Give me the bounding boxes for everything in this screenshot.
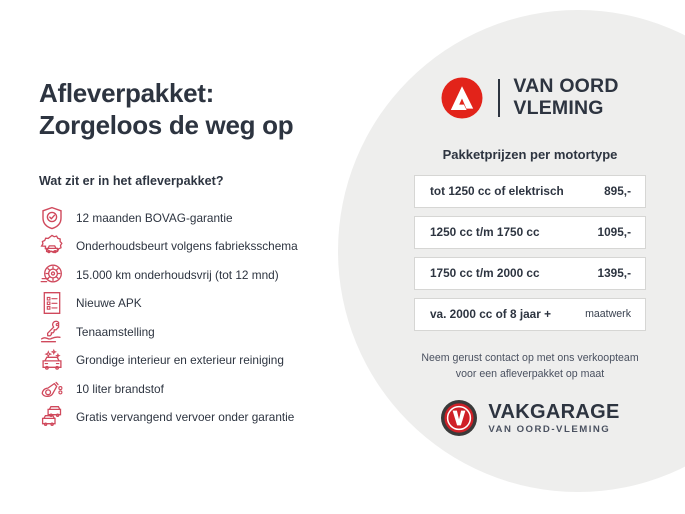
headline-line-2: Zorgeloos de weg op bbox=[39, 110, 359, 142]
headline-line-1: Afleverpakket: bbox=[39, 78, 214, 108]
clipboard-checklist-icon bbox=[39, 290, 65, 316]
price-table: tot 1250 cc of elektrisch 895,- 1250 cc … bbox=[414, 175, 646, 339]
price-row-value: 895,- bbox=[604, 184, 631, 198]
price-row-type: va. 2000 cc of 8 jaar + bbox=[430, 307, 585, 321]
list-item-label: 12 maanden BOVAG-garantie bbox=[76, 211, 233, 225]
list-item-label: 10 liter brandstof bbox=[76, 382, 164, 396]
two-cars-icon bbox=[39, 404, 65, 430]
contact-note-line-1: Neem gerust contact op met ons verkoopte… bbox=[421, 351, 638, 367]
brand-name-line-1: VAN OORD bbox=[513, 76, 618, 98]
list-item: 15.000 km onderhoudsvrij (tot 12 mnd) bbox=[39, 260, 359, 289]
features-subheading: Wat zit er in het afleverpakket? bbox=[39, 174, 359, 188]
price-row-type: 1250 cc t/m 1750 cc bbox=[430, 225, 598, 239]
list-item-label: Onderhoudsbeurt volgens fabrieksschema bbox=[76, 239, 298, 253]
shield-check-icon bbox=[39, 205, 65, 231]
list-item-label: Nieuwe APK bbox=[76, 296, 142, 310]
poster-canvas: Afleverpakket: Zorgeloos de weg op Wat z… bbox=[0, 0, 685, 514]
price-row-value: maatwerk bbox=[585, 308, 631, 320]
list-item: Onderhoudsbeurt volgens fabrieksschema bbox=[39, 232, 359, 261]
list-item: 10 liter brandstof bbox=[39, 374, 359, 403]
brand-logo: VAN OORD VLEMING bbox=[441, 76, 618, 120]
price-row-type: 1750 cc t/m 2000 cc bbox=[430, 266, 598, 280]
right-content-column: VAN OORD VLEMING Pakketprijzen per motor… bbox=[400, 0, 660, 514]
list-item: Nieuwe APK bbox=[39, 289, 359, 318]
car-sparkle-clean-icon bbox=[39, 347, 65, 373]
price-row-type: tot 1250 cc of elektrisch bbox=[430, 184, 604, 198]
contact-note-line-2: voor een afleverpakket op maat bbox=[421, 367, 638, 383]
brand-divider bbox=[498, 79, 500, 117]
price-row-value: 1395,- bbox=[598, 266, 631, 280]
brand-name-line-2: VLEMING bbox=[513, 98, 618, 120]
contact-note: Neem gerust contact op met ons verkoopte… bbox=[421, 351, 638, 383]
features-list: 12 maanden BOVAG-garantie Onderhoudsbeur… bbox=[39, 203, 359, 431]
list-item: 12 maanden BOVAG-garantie bbox=[39, 203, 359, 232]
car-service-gear-icon bbox=[39, 233, 65, 259]
list-item-label: Tenaamstelling bbox=[76, 325, 155, 339]
list-item-label: Gratis vervangend vervoer onder garantie bbox=[76, 410, 294, 424]
key-in-hand-icon bbox=[39, 319, 65, 345]
vakgarage-logo: VAKGARAGE VAN OORD-VLEMING bbox=[440, 399, 619, 437]
price-row-value: 1095,- bbox=[598, 225, 631, 239]
vakgarage-title: VAKGARAGE bbox=[488, 402, 619, 422]
page-title: Afleverpakket: Zorgeloos de weg op bbox=[39, 78, 359, 141]
list-item: Grondige interieur en exterieur reinigin… bbox=[39, 346, 359, 375]
table-row: 1750 cc t/m 2000 cc 1395,- bbox=[414, 257, 646, 290]
left-content-column: Afleverpakket: Zorgeloos de weg op Wat z… bbox=[39, 78, 359, 431]
list-item: Tenaamstelling bbox=[39, 317, 359, 346]
brand-name: VAN OORD VLEMING bbox=[513, 76, 618, 120]
a-circle-logo-icon bbox=[441, 77, 483, 119]
list-item-label: Grondige interieur en exterieur reinigin… bbox=[76, 353, 284, 367]
vakgarage-wordmark: VAKGARAGE VAN OORD-VLEMING bbox=[488, 402, 619, 435]
table-row: tot 1250 cc of elektrisch 895,- bbox=[414, 175, 646, 208]
vakgarage-v-badge-icon bbox=[440, 399, 478, 437]
table-row: 1250 cc t/m 1750 cc 1095,- bbox=[414, 216, 646, 249]
wheel-icon bbox=[39, 262, 65, 288]
table-row: va. 2000 cc of 8 jaar + maatwerk bbox=[414, 298, 646, 331]
list-item: Gratis vervangend vervoer onder garantie bbox=[39, 403, 359, 432]
fuel-pump-icon bbox=[39, 376, 65, 402]
list-item-label: 15.000 km onderhoudsvrij (tot 12 mnd) bbox=[76, 268, 279, 282]
vakgarage-subtitle: VAN OORD-VLEMING bbox=[488, 425, 619, 435]
price-table-heading: Pakketprijzen per motortype bbox=[443, 147, 618, 162]
